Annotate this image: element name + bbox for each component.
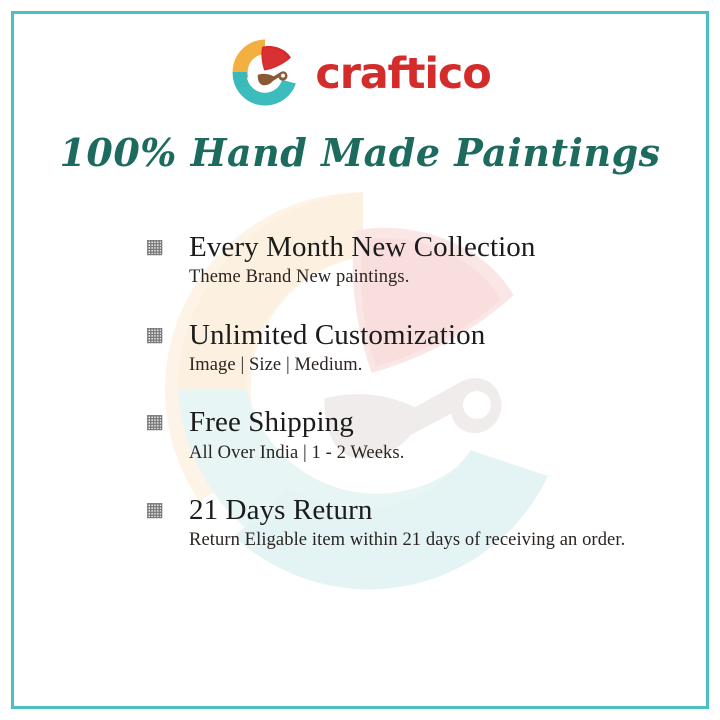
craftico-c-brush-logo-icon xyxy=(229,36,301,108)
feature-subtitle: Image | Size | Medium. xyxy=(189,353,626,378)
list-item: Every Month New Collection Theme Brand N… xyxy=(146,231,626,291)
list-item: Unlimited Customization Image | Size | M… xyxy=(146,319,626,379)
feature-title: 21 Days Return xyxy=(189,494,626,526)
feature-subtitle: Return Eligable item within 21 days of r… xyxy=(189,528,626,553)
page-headline: 100% Hand Made Paintings xyxy=(0,130,720,175)
brand-wordmark: craftico xyxy=(315,53,490,96)
feature-title: Free Shipping xyxy=(189,406,626,438)
feature-title: Unlimited Customization xyxy=(189,319,626,351)
list-item: 21 Days Return Return Eligable item with… xyxy=(146,494,626,554)
feature-list: Every Month New Collection Theme Brand N… xyxy=(146,231,626,554)
woven-grid-bullet-icon xyxy=(146,327,163,344)
woven-grid-bullet-icon xyxy=(146,239,163,256)
brand-logo: craftico xyxy=(0,33,720,111)
craftico-feature-banner: craftico 100% Hand Made Paintings Every … xyxy=(0,0,720,720)
woven-grid-bullet-icon xyxy=(146,414,163,431)
list-item: Free Shipping All Over India | 1 - 2 Wee… xyxy=(146,406,626,466)
feature-subtitle: All Over India | 1 - 2 Weeks. xyxy=(189,441,626,466)
feature-subtitle: Theme Brand New paintings. xyxy=(189,265,626,290)
feature-title: Every Month New Collection xyxy=(189,231,626,263)
woven-grid-bullet-icon xyxy=(146,502,163,519)
